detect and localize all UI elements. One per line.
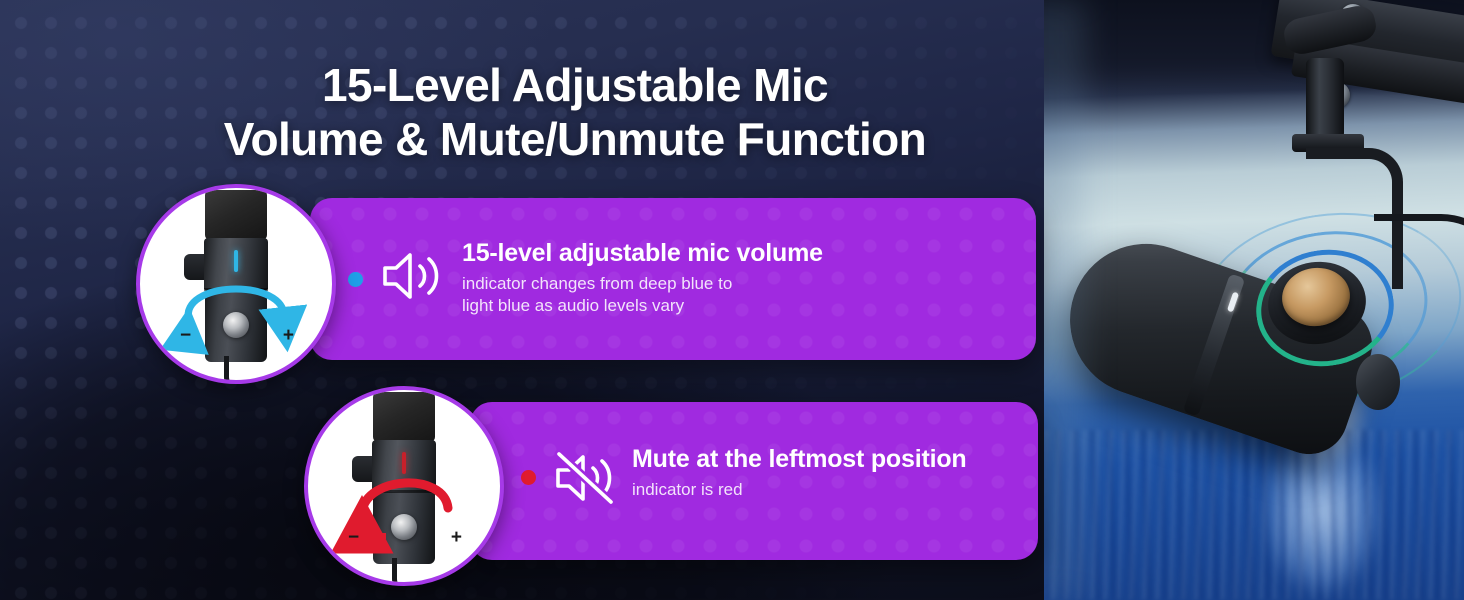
feature-subtitle-volume-line1: indicator changes from deep blue to bbox=[462, 273, 823, 295]
thumb-mic-illustration-volume: − + bbox=[140, 188, 332, 380]
product-feature-banner: 15-Level Adjustable Mic Volume & Mute/Un… bbox=[0, 0, 1464, 600]
feature-text-mute: Mute at the leftmost position indicator … bbox=[632, 444, 966, 501]
mic-thumbnail-mute: − + bbox=[304, 386, 504, 586]
headline-line-2: Volume & Mute/Unmute Function bbox=[0, 112, 1150, 166]
mic-cable bbox=[1374, 214, 1464, 313]
mute-minus-label: − bbox=[348, 528, 359, 547]
volume-plus-label: + bbox=[283, 326, 294, 345]
mic-thumbnail-volume: − + bbox=[136, 184, 336, 384]
mute-rotation-arrow-red bbox=[308, 390, 500, 582]
feature-title-volume: 15-level adjustable mic volume bbox=[462, 238, 823, 269]
mic-mount-post bbox=[1306, 58, 1344, 140]
photo-water-texture bbox=[1044, 430, 1464, 600]
headline-line-1: 15-Level Adjustable Mic bbox=[322, 59, 828, 111]
mute-plus-label: + bbox=[451, 528, 462, 547]
volume-rotation-arrows-blue bbox=[140, 188, 332, 380]
volume-minus-label: − bbox=[180, 326, 191, 345]
banner-headline: 15-Level Adjustable Mic Volume & Mute/Un… bbox=[0, 58, 1150, 167]
thumb-mic-illustration-mute: − + bbox=[308, 390, 500, 582]
bullet-dot-volume bbox=[348, 272, 363, 287]
speaker-muted-icon bbox=[553, 450, 615, 511]
speaker-waves-icon bbox=[380, 248, 442, 309]
feature-subtitle-volume-line2: light blue as audio levels vary bbox=[462, 295, 823, 317]
feature-text-volume: 15-level adjustable mic volume indicator… bbox=[462, 238, 823, 317]
feature-title-mute: Mute at the leftmost position bbox=[632, 444, 966, 475]
feature-subtitle-mute-line1: indicator is red bbox=[632, 479, 966, 501]
photo-mic-side-disc bbox=[1356, 354, 1400, 410]
bullet-dot-mute bbox=[521, 470, 536, 485]
